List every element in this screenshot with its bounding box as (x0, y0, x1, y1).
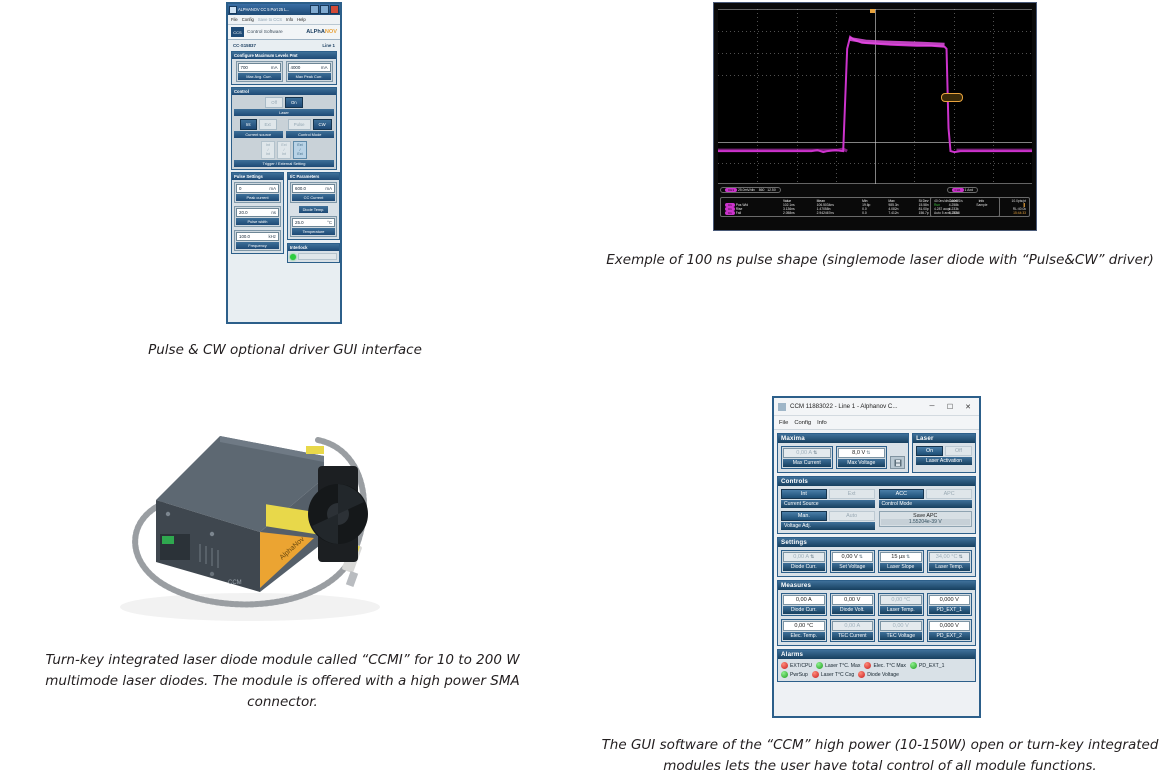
max-peak-curr-value[interactable]: 4000mA (288, 63, 331, 72)
measure-tec-current-value: 0,00 A (832, 621, 874, 631)
max-peak-curr-label: Max Peak Curr. (288, 73, 331, 80)
laser-activation-label: Laser Activation (916, 457, 972, 465)
pulsecw-window-frame: ALPHANOV CC 5 Port 25 L... File Config S… (226, 2, 342, 324)
pulse-width-field[interactable]: 20.0ns Pulse width (234, 206, 281, 227)
green-terminal (162, 536, 174, 544)
ccmi-module-photo: AlphaNov CCM (100, 392, 480, 632)
alarm-pd-ext-1: PD_EXT_1 (910, 662, 944, 669)
spinner-icon: ⇅ (866, 450, 870, 456)
module-label: CCM (228, 580, 242, 586)
led-icon (910, 662, 917, 669)
max-current-value[interactable]: 0,00 A⇅ (783, 448, 831, 458)
set-voltage-value[interactable]: 0,00 V⇅ (832, 552, 874, 562)
channel-time: 12.50 (767, 188, 776, 192)
measures-row-2: 0,00 °C Elec. Temp. 0,00 A TEC Current 0… (781, 619, 972, 642)
max-current-label: Max Current (783, 459, 831, 467)
alarms-list: EXT/CPU Laser T°C. Max Elec. T°C Max PD_… (778, 659, 975, 681)
measure-pd-ext-2-value: 0,000 V (929, 621, 971, 631)
trigger-level: 1 Axd (965, 188, 973, 192)
scope-trigger-bar: CH1 1 Axd (947, 187, 978, 193)
current-source-buttons: Int Ext (781, 489, 875, 499)
laser-header: Laser (913, 434, 975, 443)
interlock-status-bar (298, 253, 337, 260)
current-source-int-button[interactable]: Int (240, 119, 257, 130)
voltage-adj-buttons: Man. Auto (781, 511, 875, 521)
ccm-body: Maxima 0,00 A⇅ Max Current 8,0 V⇅ Max Vo… (774, 430, 979, 716)
voltage-adj-label: Voltage Adj. (781, 522, 875, 530)
menu-file[interactable]: File (779, 420, 788, 426)
frequency-field[interactable]: 100.0kHz Frequency (234, 230, 281, 251)
max-peak-curr-field[interactable]: 4000mA Max Peak Curr. (286, 61, 333, 82)
interlock-row (288, 251, 339, 262)
temperature-label: Temperature (292, 228, 335, 235)
alarm-ext-cpu: EXT/CPU (781, 662, 812, 669)
close-button[interactable] (330, 5, 339, 14)
control-mode-apc-button[interactable]: APC (926, 489, 972, 499)
current-source-ext-button[interactable]: Ext (829, 489, 875, 499)
alarm-laser-temp-csg: Laser T°C Csg (812, 671, 854, 678)
pulsecw-gui-window: ALPHANOV CC 5 Port 25 L... File Config S… (226, 2, 342, 324)
temperature-field[interactable]: 25.0°C Temperature (290, 216, 337, 237)
current-source-buttons: Int Ext (234, 119, 283, 130)
laser-on-button[interactable]: On (916, 446, 943, 456)
voltage-apc-row: Man. Auto Voltage Adj. Save APC 1.55204e… (781, 511, 972, 530)
voltage-adj-block: Man. Auto Voltage Adj. (781, 511, 875, 530)
interlock-group: Interlock (287, 243, 340, 263)
timestamp: 15:44:33 (1013, 211, 1026, 215)
save-apc-block[interactable]: Save APC 1.55204e-39 V (879, 511, 973, 530)
measure-diode-volt: 0,00 V Diode Volt. (830, 593, 876, 616)
laser-slope-label: Laser Slope (880, 563, 922, 571)
screw (210, 532, 214, 536)
laser-label-top (306, 446, 324, 454)
maxima-header: Configure Maximum Levels Pmt (232, 52, 336, 59)
led-icon (858, 671, 865, 678)
row-name: C1 Fall (723, 211, 781, 215)
alarms-group: Alarms EXT/CPU Laser T°C. Max Elec. T°C … (777, 649, 976, 682)
window-buttons (310, 5, 339, 14)
cc-parameters-fields: 600.0mA CC Current Diode Temp. 25.0°C Te… (288, 180, 339, 239)
trigger-ext-int-button[interactable]: Ext/Int (277, 141, 291, 159)
app-icon (778, 403, 786, 411)
set-voltage-label: Set Voltage (832, 563, 874, 571)
app-icon (229, 6, 237, 14)
oscilloscope-screenshot: CH1 25.0mV/div 860 12.50 CH1 1 Axd Value… (713, 2, 1037, 231)
led-icon (864, 662, 871, 669)
current-source-block: Int Ext Current Source (781, 489, 875, 508)
diode-curr-setting[interactable]: 0,00 A⇅ Diode Curr. (781, 550, 827, 573)
maxima-fields: 700mA Max Avg. Curr. 4000mA Max Peak Cur… (232, 59, 336, 84)
diode-curr-setting-label: Diode Curr. (783, 563, 825, 571)
line-label: Line 1 (322, 43, 335, 48)
controls-body: Int Ext Current Source ACC APC Control M… (778, 486, 975, 533)
led-icon (781, 671, 788, 678)
laser-temp-setting-label: Laser Temp. (929, 563, 971, 571)
measure-elec-temp-value: 0,00 °C (783, 621, 825, 631)
measure-laser-temp-label: Laser Temp. (880, 606, 922, 614)
control-mode-cw-button[interactable]: CW (313, 119, 332, 130)
laser-slope-value[interactable]: 15 µs⇅ (880, 552, 922, 562)
measure-elec-temp: 0,00 °C Elec. Temp. (781, 619, 827, 642)
menu-config[interactable]: Config (242, 17, 254, 22)
maxima-laser-row: Maxima 0,00 A⇅ Max Current 8,0 V⇅ Max Vo… (777, 433, 976, 473)
pulse-settings-group: Pulse Settings 0mA Peak current 20.0ns P… (231, 172, 284, 254)
cc-parameters-header: I/C Parameters (288, 173, 339, 180)
laser-controls: On Off Laser Activation (913, 443, 975, 468)
maxima-group: Maxima 0,00 A⇅ Max Current 8,0 V⇅ Max Vo… (777, 433, 909, 473)
caption-module: Turn-key integrated laser diode module c… (10, 650, 555, 713)
save-apc-button[interactable]: Save APC 1.55204e-39 V (879, 511, 973, 527)
current-source-block: Int Ext Current source (234, 119, 283, 138)
screw (210, 572, 214, 576)
scope-channel-bar: CH1 25.0mV/div 860 12.50 (720, 187, 781, 193)
cursor-badge (941, 93, 963, 102)
trigger-label: Trigger / External Setting (234, 160, 334, 167)
control-mode-buttons: ACC APC (879, 489, 973, 499)
measure-diode-volt-value: 0,00 V (832, 595, 874, 605)
measure-tec-current-label: TEC Current (832, 632, 874, 640)
diode-temp-header: Diode Temp. (299, 206, 329, 213)
controls-header: Controls (778, 477, 975, 486)
max-voltage-field[interactable]: 8,0 V⇅ Max Voltage (836, 446, 888, 469)
caption-pulsecw: Pulse & CW optional driver GUI interface (60, 340, 510, 361)
maxima-fields: 0,00 A⇅ Max Current 8,0 V⇅ Max Voltage (778, 443, 908, 472)
menu-info[interactable]: Info (286, 17, 293, 22)
trigger-buttons: Int/Int Ext/Int Ext/Ext (234, 141, 334, 159)
pulsecw-menubar: File Config Save to CCS Info Help (228, 15, 340, 25)
pulsecw-body: CC-S15837 Line 1 Configure Maximum Level… (228, 40, 340, 322)
control-header: Control (232, 88, 336, 95)
alarm-elec-temp-max: Elec. T°C Max (864, 662, 906, 669)
measures-group: Measures 0,00 A Diode Curr. 0,00 V Diode… (777, 580, 976, 646)
trigger-ext-ext-button[interactable]: Ext/Ext (293, 141, 307, 159)
ccs-logo: CCS (231, 27, 244, 37)
measure-laser-temp-value: 0,00 °C (880, 595, 922, 605)
trigger-marker-icon (870, 9, 875, 13)
module-body: AlphaNov CCM (156, 436, 368, 592)
control-mode-block: ACC APC Control Mode (879, 489, 973, 508)
alarm-pwrsup: PwrSup (781, 671, 808, 678)
laser-slope-setting[interactable]: 15 µs⇅ Laser Slope (878, 550, 924, 573)
measures-body: 0,00 A Diode Curr. 0,00 V Diode Volt. 0,… (778, 590, 975, 645)
trigger-int-int-button[interactable]: Int/Int (261, 141, 275, 159)
max-current-field[interactable]: 0,00 A⇅ Max Current (781, 446, 833, 469)
menu-config[interactable]: Config (794, 420, 811, 426)
alarm-diode-voltage: Diode Voltage (858, 671, 899, 678)
auto-date: Auto 5 avril, 2018 (934, 211, 960, 215)
temperature-value[interactable]: 25.0°C (292, 218, 335, 227)
control-mode-pulse-button[interactable]: Pulse (288, 119, 311, 130)
max-avg-curr-value[interactable]: 700mA (238, 63, 281, 72)
measure-diode-curr-value: 0,00 A (783, 595, 825, 605)
laser-group: Laser On Off Laser Activation (912, 433, 976, 473)
row-min: 0.0 (860, 211, 886, 215)
control-group: Control Off On Laser Int Ext Curre (231, 87, 337, 170)
current-source-label: Current source (234, 131, 283, 138)
cc-current-label: CC Current (292, 194, 335, 201)
maxima-header: Maxima (778, 434, 908, 443)
spinner-icon: ⇅ (813, 450, 817, 456)
led-icon (816, 662, 823, 669)
pulse-width-label: Pulse width (236, 218, 279, 225)
peak-current-field[interactable]: 0mA Peak current (234, 182, 281, 203)
channel-offset: 860 (759, 188, 765, 192)
measures-header: Measures (778, 581, 975, 590)
caption-scope: Exemple of 100 ns pulse shape (singlemod… (600, 250, 1160, 271)
voltage-adj-auto-button[interactable]: Auto (829, 511, 875, 521)
row-value: 2.058ns (781, 211, 815, 215)
interlock-led-icon (290, 254, 296, 260)
measure-tec-current: 0,00 A TEC Current (830, 619, 876, 642)
module-illustration: AlphaNov CCM (100, 392, 480, 632)
current-source-ext-button[interactable]: Ext (259, 119, 277, 130)
channel-badge: CH1 (725, 188, 737, 192)
current-source-int-button[interactable]: Int (781, 489, 827, 499)
channel-scale: 25.0mV/div (738, 188, 755, 192)
source-mode-row: Int Ext Current Source ACC APC Control M… (781, 489, 972, 508)
settings-row: Pulse Settings 0mA Peak current 20.0ns P… (231, 172, 337, 320)
laser-buttons: On Off (916, 446, 972, 456)
ccm-titlebar: CCM 11883022 - Line 1 - Alphanov C... ─ … (774, 398, 979, 416)
control-mode-buttons: Pulse CW (286, 119, 335, 130)
ccm-menubar: File Config Info (774, 416, 979, 430)
max-avg-curr-field[interactable]: 700mA Max Avg. Curr. (236, 61, 283, 82)
acq-mode: Sample (976, 203, 987, 207)
trigger-badge: CH1 (952, 188, 964, 192)
alarms-header: Alarms (778, 650, 975, 659)
laser-off-button[interactable]: Off (945, 446, 972, 456)
pulse-waveform (718, 9, 1032, 183)
measure-elec-temp-label: Elec. Temp. (783, 632, 825, 640)
controls-group: Controls Int Ext Current Source ACC APC (777, 476, 976, 534)
alarm-laser-temp-max: Laser T°C. Max (816, 662, 860, 669)
frequency-value[interactable]: 100.0kHz (236, 232, 279, 241)
device-id: CC-S15837 (233, 43, 256, 48)
minimize-button[interactable]: ─ (925, 403, 939, 410)
measures-row-1: 0,00 A Diode Curr. 0,00 V Diode Volt. 0,… (781, 593, 972, 616)
current-source-label: Current Source (781, 500, 875, 508)
menu-file[interactable]: File (231, 17, 238, 22)
measure-pd-ext-1: 0,000 V PD_EXT_1 (927, 593, 973, 616)
pulsecw-title: ALPHANOV CC 5 Port 25 L... (238, 7, 309, 12)
measure-diode-curr-label: Diode Curr. (783, 606, 825, 614)
close-button[interactable]: ✕ (961, 403, 975, 411)
max-voltage-value[interactable]: 8,0 V⇅ (838, 448, 886, 458)
cc-parameters-column: I/C Parameters 600.0mA CC Current Diode … (287, 172, 340, 263)
max-voltage-label: Max Voltage (838, 459, 886, 467)
caption-ccm: The GUI software of the “CCM” high power… (600, 735, 1160, 777)
laser-label: Laser (234, 109, 334, 116)
laser-on-button[interactable]: On (285, 97, 303, 108)
brand-triangle (260, 532, 314, 588)
save-apc-value: 1.55204e-39 V (881, 519, 971, 525)
peak-current-label: Peak current (236, 194, 279, 201)
minimize-button[interactable] (310, 5, 319, 14)
screw (166, 512, 170, 516)
cc-parameters-group: I/C Parameters 600.0mA CC Current Diode … (287, 172, 340, 240)
ccm-title: CCM 11883022 - Line 1 - Alphanov C... (790, 403, 921, 410)
menu-info[interactable]: Info (817, 420, 827, 426)
device-row: CC-S15837 Line 1 (231, 42, 337, 49)
scope-graticule (718, 9, 1032, 184)
interlock-header: Interlock (288, 244, 339, 251)
control-software-label: Control Software (247, 30, 303, 35)
measure-pd-ext-2: 0,000 V PD_EXT_2 (927, 619, 973, 642)
scope-status-box: 40.0ns/div 100GS/s 10.0pts/pt Run Sample… (930, 197, 1030, 217)
pulse-width-value[interactable]: 20.0ns (236, 208, 279, 217)
voltage-adj-man-button[interactable]: Man. (781, 511, 827, 521)
control-mode-label: Control Mode (879, 500, 973, 508)
measure-pd-ext-1-value: 0,000 V (929, 595, 971, 605)
alphanov-logo: ALPhANOV (306, 29, 337, 35)
cc-current-value[interactable]: 600.0mA (292, 184, 335, 193)
control-box: Off On Laser Int Ext Current source (232, 95, 336, 169)
maximize-button[interactable]: ☐ (943, 403, 957, 411)
measure-tec-voltage-value: 0,00 V (880, 621, 922, 631)
frequency-label: Frequency (236, 242, 279, 249)
save-icon[interactable] (890, 456, 905, 469)
measure-tec-voltage: 0,00 V TEC Voltage (878, 619, 924, 642)
led-icon (812, 671, 819, 678)
measure-tec-voltage-label: TEC Voltage (880, 632, 922, 640)
menu-save-to-ccs[interactable]: Save to CCS (258, 17, 282, 22)
measure-laser-temp: 0,00 °C Laser Temp. (878, 593, 924, 616)
measure-diode-volt-label: Diode Volt. (832, 606, 874, 614)
measure-pd-ext-1-label: PD_EXT_1 (929, 606, 971, 614)
pulse-settings-fields: 0mA Peak current 20.0ns Pulse width 100.… (232, 180, 283, 253)
row-max: 7.412n (886, 211, 916, 215)
control-mode-label: Control Mode (286, 131, 335, 138)
cc-current-field[interactable]: 600.0mA CC Current (290, 182, 337, 203)
set-voltage-setting[interactable]: 0,00 V⇅ Set Voltage (830, 550, 876, 573)
measure-pd-ext-2-label: PD_EXT_2 (929, 632, 971, 640)
control-mode-acc-button[interactable]: ACC (879, 489, 925, 499)
pulse-settings-header: Pulse Settings (232, 173, 283, 180)
pulsecw-brandbar: CCS Control Software ALPhANOV (228, 25, 340, 40)
menu-help[interactable]: Help (297, 17, 306, 22)
control-mode-block: Pulse CW Control Mode (286, 119, 335, 138)
maximize-button[interactable] (320, 5, 329, 14)
source-mode-row: Int Ext Current source Pulse CW Control … (234, 119, 334, 138)
settings-header: Settings (778, 538, 975, 547)
settings-group: Settings 0,00 A⇅ Diode Curr. 0,00 V⇅ Set… (777, 537, 976, 577)
max-avg-curr-label: Max Avg. Curr. (238, 73, 281, 80)
diode-curr-setting-value[interactable]: 0,00 A⇅ (783, 552, 825, 562)
measure-diode-curr: 0,00 A Diode Curr. (781, 593, 827, 616)
row-mean: 2.942467ns (815, 211, 860, 215)
scope-info-area: CH1 25.0mV/div 860 12.50 CH1 1 Axd Value… (718, 188, 1032, 228)
laser-temp-setting-value[interactable]: 34,00 °C⇅ (929, 552, 971, 562)
laser-temp-setting[interactable]: 34,00 °C⇅ Laser Temp. (927, 550, 973, 573)
maxima-group: Configure Maximum Levels Pmt 700mA Max A… (231, 51, 337, 85)
laser-off-button[interactable]: Off (265, 97, 283, 108)
settings-fields: 0,00 A⇅ Diode Curr. 0,00 V⇅ Set Voltage … (778, 547, 975, 576)
laser-buttons: Off On (234, 97, 334, 108)
led-icon (781, 662, 788, 669)
pulsecw-titlebar: ALPHANOV CC 5 Port 25 L... (228, 4, 340, 15)
peak-current-value[interactable]: 0mA (236, 184, 279, 193)
ccm-gui-window: CCM 11883022 - Line 1 - Alphanov C... ─ … (772, 396, 981, 718)
